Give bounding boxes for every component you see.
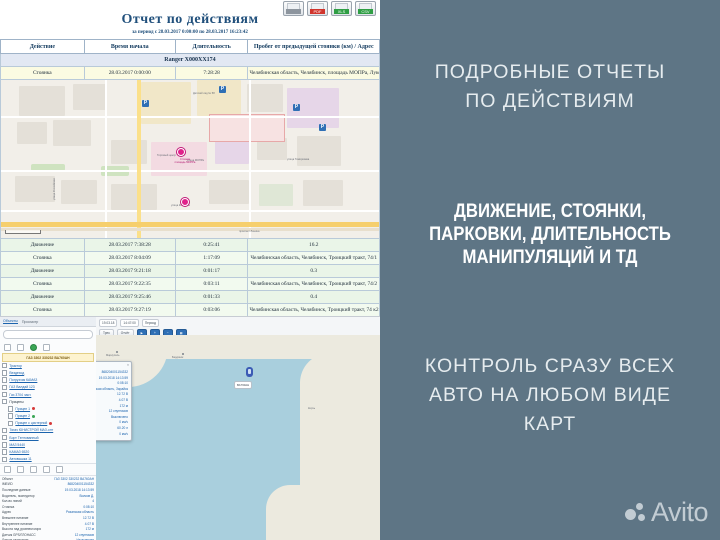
map-zone-highlight	[209, 114, 285, 142]
history-icon[interactable]	[17, 466, 24, 473]
promo-headline-line-1: ПОДРОБНЫЕ ОТЧЕТЫ	[380, 58, 720, 87]
tree-group-label[interactable]: Прицепы	[9, 400, 23, 404]
map-scale-bar	[5, 230, 41, 234]
report-route-map[interactable]: улица МОПРа улица Коммуны улица Российск…	[0, 80, 380, 238]
cell-start: 28.03.2017 9:22:35	[84, 278, 175, 291]
checkbox-icon[interactable]	[2, 449, 7, 454]
promo-features-line-1: ДВИЖЕНИЕ, СТОЯНКИ,	[400, 200, 699, 223]
map-place-label: Мариуполь	[106, 354, 119, 357]
list-item[interactable]: Прицеп 1	[2, 405, 94, 412]
sidebar-filter-icons[interactable]	[0, 342, 96, 353]
tree-item-label[interactable]: Автовышка 11	[9, 457, 31, 461]
csv-icon: CSV	[358, 9, 373, 14]
table-header-row: Действие Время начала Длительность Пробе…	[1, 40, 380, 54]
tree-item-label[interactable]: Прицеп с цистерной	[15, 421, 47, 425]
status-dot-icon	[49, 422, 52, 425]
cell-action: Стоянка	[1, 278, 85, 291]
list-item[interactable]: Тягач ЮНИСТРОЙ МАЗ-опт	[2, 427, 94, 434]
cell-action: Стоянка	[1, 304, 85, 317]
xls-icon: XLS	[334, 9, 349, 14]
tree-item-label[interactable]: Прицеп 1	[15, 407, 30, 411]
tree-item-selected[interactable]: ГАЗ 3302 330232 ВА760АН	[2, 353, 94, 362]
report-table-top: Действие Время начала Длительность Пробе…	[0, 39, 380, 80]
promo-footer: КОНТРОЛЬ СРАЗУ ВСЕХ АВТО НА ЛЮБОМ ВИДЕ К…	[380, 352, 720, 439]
parking-marker[interactable]: P	[293, 104, 300, 111]
cell-address: 0.3	[248, 265, 380, 278]
edit-icon[interactable]	[56, 466, 63, 473]
report-icon[interactable]	[30, 466, 37, 473]
cell-duration: 0:25:41	[175, 239, 248, 252]
promo-features: ДВИЖЕНИЕ, СТОЯНКИ, ПАРКОВКИ, ДЛИТЕЛЬНОСТ…	[380, 200, 720, 269]
promo-footer-line-2: АВТО НА ЛЮБОМ ВИДЕ	[380, 381, 720, 410]
column-header-action: Действие	[1, 40, 85, 54]
list-item[interactable]: Погрузчик КАМАЗ	[2, 377, 94, 384]
stop-pin-marker[interactable]	[181, 198, 189, 206]
list-item[interactable]: Прицеп с цистерной	[2, 420, 94, 427]
report-export-toolbar[interactable]: PDF XLS CSV	[283, 1, 376, 16]
object-properties-panel: ОбъектГАЗ 3302 330232 ВА760АН IMEI/ID868…	[0, 475, 96, 540]
settings-icon[interactable]	[43, 344, 50, 351]
cell-duration: 0:01:17	[175, 265, 248, 278]
parking-marker[interactable]: P	[219, 86, 226, 93]
checkbox-icon[interactable]	[2, 377, 7, 382]
checkbox-icon[interactable]	[8, 413, 13, 418]
promo-headline-line-2: ПО ДЕЙСТВИЯМ	[380, 87, 720, 116]
cell-action: Движение	[1, 265, 85, 278]
tree-item-label[interactable]: Газ 3704 част.	[9, 393, 31, 397]
checkbox-icon[interactable]	[2, 442, 7, 447]
checkbox-icon[interactable]	[2, 457, 7, 462]
table-row[interactable]: Стоянка 28.03.2017 0:00:00 7:28:28 Челяб…	[1, 67, 380, 80]
app-sidebar: Объекты Просмотр ГАЗ 3302 330232 ВА760АН…	[0, 317, 97, 540]
checkbox-icon[interactable]	[2, 363, 7, 368]
map-street-label: Торговый центр	[157, 154, 176, 157]
map-land-southeast	[266, 485, 380, 540]
list-item[interactable]: Трактор	[2, 362, 94, 369]
search-input[interactable]	[3, 330, 93, 339]
table-row[interactable]: Стоянка 28.03.2017 9:27:19 0:03:06 Челяб…	[1, 304, 380, 317]
online-status-icon[interactable]	[30, 344, 37, 351]
cell-address: 0.4	[248, 291, 380, 304]
print-icon	[286, 9, 301, 14]
pdf-icon: PDF	[310, 9, 325, 14]
tree-item-label[interactable]: МАЗ 5440	[9, 443, 25, 447]
xls-button[interactable]: XLS	[331, 1, 352, 16]
cell-duration: 1:17:09	[175, 252, 248, 265]
tree-item-label[interactable]: Прицеп 2	[15, 414, 30, 418]
cell-duration: 0:03:06	[175, 304, 248, 317]
promo-headline: ПОДРОБНЫЕ ОТЧЕТЫ ПО ДЕЙСТВИЯМ	[380, 58, 720, 116]
status-dot-icon	[32, 407, 35, 410]
map-place-label: Бердянск	[172, 356, 183, 359]
cell-action: Стоянка	[1, 67, 85, 80]
vehicle-map-marker[interactable]	[246, 367, 253, 377]
vehicle-info-popup[interactable]: ГАЗ 3302 330232 ВА760АН × IMEI/ID8682040…	[96, 361, 132, 441]
table-row[interactable]: Стоянка 28.03.2017 9:22:35 0:03:11 Челяб…	[1, 278, 380, 291]
promo-panel: ПОДРОБНЫЕ ОТЧЕТЫ ПО ДЕЙСТВИЯМ ДВИЖЕНИЕ, …	[380, 0, 720, 540]
table-row[interactable]: Движение 28.03.2017 9:25:46 0:01:33 0.4	[1, 291, 380, 304]
pdf-button[interactable]: PDF	[307, 1, 328, 16]
popup-value: 0 км/ч	[119, 432, 128, 438]
tree-item-label[interactable]: Вездеход	[9, 371, 24, 375]
cell-start: 28.03.2017 8:04:09	[84, 252, 175, 265]
tree-item-label[interactable]: Трактор	[9, 364, 21, 368]
list-item[interactable]: Автовышка 11	[2, 456, 94, 463]
object-action-icons[interactable]	[0, 463, 96, 475]
list-item[interactable]: Прицепы	[2, 398, 94, 405]
list-item[interactable]: Вездеход	[2, 369, 94, 376]
stop-pin-marker[interactable]	[177, 148, 185, 156]
report-period-subtitle: за период с 28.03.2017 0:00:00 по 28.03.…	[0, 30, 380, 35]
cell-address: Челябинская область, Челябинск, площадь …	[248, 67, 380, 80]
sidebar-tabs[interactable]: Объекты Просмотр	[0, 317, 96, 327]
popup-row: Скорость0 км/ч	[96, 432, 128, 438]
list-icon[interactable]	[4, 344, 11, 351]
table-row[interactable]: Движение 28.03.2017 9:21:18 0:01:17 0.3	[1, 265, 380, 278]
csv-button[interactable]: CSV	[355, 1, 376, 16]
promo-footer-line-3: КАРТ	[380, 410, 720, 439]
list-item[interactable]: Газ 3704 част.	[2, 391, 94, 398]
cell-address: 16.2	[248, 239, 380, 252]
popup-title: ГАЗ 3302 330232 ВА760АН	[96, 362, 131, 369]
cell-start: 28.03.2017 9:27:19	[84, 304, 175, 317]
table-row[interactable]: Движение 28.03.2017 7:38:28 0:25:41 16.2	[1, 239, 380, 252]
tree-item-label[interactable]: КАМАЗ 6520	[9, 450, 29, 454]
cell-start: 28.03.2017 9:21:18	[84, 265, 175, 278]
promo-footer-line-1: КОНТРОЛЬ СРАЗУ ВСЕХ	[380, 352, 720, 381]
cell-start: 28.03.2017 0:00:00	[84, 67, 175, 80]
list-item[interactable]: МАЗ 5440	[2, 441, 94, 448]
list-item[interactable]: ГАЗ Валдай 123	[2, 384, 94, 391]
cell-address: Челябинская область, Челябинск, Троицкий…	[248, 278, 380, 291]
track-icon[interactable]	[4, 466, 11, 473]
tab-objects[interactable]: Объекты	[3, 319, 18, 324]
avito-wordmark: Avito	[651, 499, 708, 526]
checkbox-icon[interactable]	[8, 406, 13, 411]
cell-duration: 0:03:11	[175, 278, 248, 291]
popup-body: IMEI/ID868204001154332 Время19.03.2018 1…	[96, 369, 131, 440]
vehicle-group-row: Ranger X000XX174	[1, 54, 380, 67]
cell-start: 28.03.2017 9:25:46	[84, 291, 175, 304]
tree-item-label[interactable]: Борт Тентованный	[9, 436, 38, 440]
promo-screenshot: PDF XLS CSV Отчет по действиям за период…	[0, 0, 720, 540]
column-header-duration: Длительность	[175, 40, 248, 54]
time-from-input[interactable]: 14:47:00	[120, 319, 138, 327]
tree-item-label[interactable]: Тягач ЮНИСТРОЙ МАЗ-опт	[9, 428, 53, 432]
list-item[interactable]: Прицеп 2	[2, 413, 94, 420]
cell-action: Движение	[1, 291, 85, 304]
column-header-start: Время начала	[84, 40, 175, 54]
tree-item-label[interactable]: Погрузчик КАМАЗ	[9, 378, 37, 382]
cell-start: 28.03.2017 7:38:28	[84, 239, 175, 252]
list-item[interactable]: Борт Тентованный	[2, 434, 94, 441]
status-dot-icon	[32, 415, 35, 418]
app-map-area[interactable]: 19.03.18 14:47:00 Период Трек Отчёт ▶ + …	[96, 317, 380, 540]
close-icon[interactable]: ×	[127, 363, 129, 367]
print-button[interactable]	[283, 1, 304, 16]
parking-marker[interactable]: P	[142, 100, 149, 107]
checkbox-icon[interactable]	[8, 421, 13, 426]
map-place-label: Керчь	[308, 407, 315, 410]
vehicle-name: Ranger X000XX174	[1, 54, 380, 67]
map-sea: Мариуполь Бердянск Керчь ВА760АН	[96, 335, 380, 540]
map-street-label: улица Тимирязева	[287, 158, 309, 161]
cell-action: Движение	[1, 239, 85, 252]
cell-duration: 0:01:33	[175, 291, 248, 304]
checkbox-icon[interactable]	[2, 385, 7, 390]
tree-item-label[interactable]: ГАЗ Валдай 123	[9, 385, 34, 389]
date-from-input[interactable]: 19.03.18	[99, 319, 117, 327]
checkbox-icon[interactable]	[2, 370, 7, 375]
avito-watermark: Avito	[625, 499, 708, 526]
group-icon[interactable]	[17, 344, 24, 351]
cell-action: Стоянка	[1, 252, 85, 265]
checkbox-icon[interactable]	[2, 428, 7, 433]
promo-features-line-3: МАНИПУЛЯЦИЙ И ТД	[400, 246, 699, 269]
stop-pin-label: Стоянкаплощадь МОПРа	[157, 158, 213, 164]
parking-marker[interactable]: P	[319, 124, 326, 131]
vehicle-marker-tooltip: ВА760АН	[234, 381, 252, 389]
period-select[interactable]: Период	[142, 319, 159, 327]
cell-duration: 7:28:28	[175, 67, 248, 80]
checkbox-icon[interactable]	[2, 435, 7, 440]
chart-icon[interactable]	[43, 466, 50, 473]
cell-address: Челябинская область, Челябинск, Троицкий…	[248, 252, 380, 265]
table-row[interactable]: Стоянка 28.03.2017 8:04:09 1:17:09 Челяб…	[1, 252, 380, 265]
cell-address: Челябинская область, Челябинск, Троицкий…	[248, 304, 380, 317]
tab-view[interactable]: Просмотр	[22, 320, 38, 324]
list-item[interactable]: КАМАЗ 6520	[2, 448, 94, 455]
map-street-label: улица Российская	[53, 178, 56, 200]
tracking-app-window: Объекты Просмотр ГАЗ 3302 330232 ВА760АН…	[0, 316, 380, 540]
promo-features-line-2: ПАРКОВКИ, ДЛИТЕЛЬНОСТЬ	[400, 223, 699, 246]
map-street-label: Детский сад № 58	[193, 92, 215, 95]
left-screenshot-column: PDF XLS CSV Отчет по действиям за период…	[0, 0, 380, 540]
column-header-distance: Пробег от предыдущей стоянки (км) / Адре…	[248, 40, 380, 54]
checkbox-icon[interactable]	[2, 392, 7, 397]
avito-logo-icon	[625, 503, 647, 523]
object-tree[interactable]: ГАЗ 3302 330232 ВА760АН Трактор Вездеход…	[0, 353, 96, 463]
checkbox-icon[interactable]	[2, 399, 7, 404]
map-street-label: проспект Ленина	[239, 230, 259, 233]
